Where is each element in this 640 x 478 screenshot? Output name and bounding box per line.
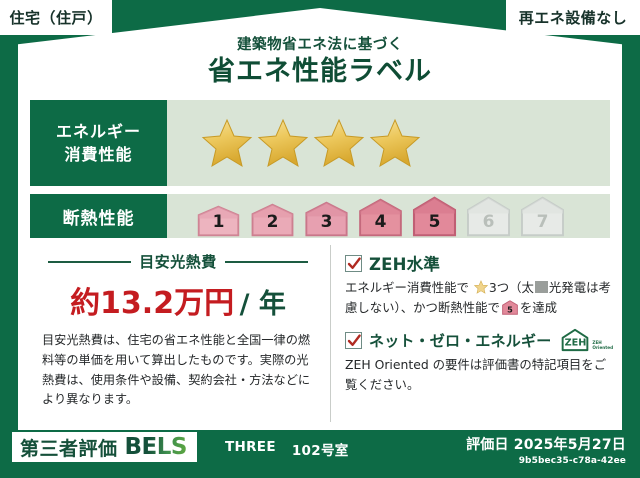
- insulation-level-scale: 1 2 3: [193, 196, 568, 237]
- inline-insulation-badge: 5: [502, 300, 518, 321]
- title-block: 建築物省エネ法に基づく 省エネ性能ラベル: [0, 38, 640, 88]
- checkbox-checked-icon: [345, 255, 362, 272]
- label-title: 省エネ性能ラベル: [0, 56, 640, 88]
- building-name: THREE: [225, 439, 276, 459]
- estimated-cost-note: 目安光熱費は、住宅の省エネ性能と全国一律の燃料等の単価を用いて算出したものです。…: [34, 331, 322, 410]
- insulation-level-number: 1: [193, 212, 244, 232]
- evaluation-date-value: 2025年5月27日: [514, 437, 626, 453]
- insulation-performance-label: 断熱性能: [30, 194, 167, 238]
- insulation-level-1: 1: [193, 205, 244, 237]
- insulation-level-number: 4: [355, 212, 406, 232]
- check-head: ZEH水準: [345, 251, 613, 275]
- svg-text:5: 5: [507, 305, 513, 315]
- insulation-performance-panel: 1 2 3: [167, 194, 610, 238]
- insulation-level-7: 7: [517, 196, 568, 237]
- room-number: 102号室: [292, 439, 349, 459]
- star-icon: [257, 117, 309, 169]
- label-footer: 第三者評価 BELS THREE 102号室 評価日 2025年5月27日 9b…: [0, 426, 640, 478]
- label-content: エネルギー 消費性能: [30, 100, 610, 422]
- evaluation-info: 評価日 2025年5月27日 9b5bec35-c78a-42ee: [466, 434, 626, 466]
- star-rating: [201, 117, 421, 169]
- zeh-house-logo-icon: ZEH: [560, 328, 590, 352]
- redacted-character-block: [535, 281, 548, 293]
- estimated-cost-heading-text: 目安光熱費: [139, 251, 217, 272]
- zeh-logo-caption: ZEH Oriented: [592, 340, 613, 353]
- compliance-checks-section: ZEH水準 エネルギー消費性能で 3つ（太光発電は考慮しない）、かつ断熱性能で …: [330, 245, 613, 422]
- estimated-cost-unit: / 年: [240, 289, 286, 320]
- estimated-cost-value: 約13.2万円: [70, 286, 234, 321]
- energy-performance-row: エネルギー 消費性能: [30, 100, 610, 186]
- evaluation-date: 評価日 2025年5月27日: [466, 434, 626, 454]
- heading-rule-left: [48, 261, 131, 263]
- insulation-level-2: 2: [247, 203, 298, 237]
- insulation-level-number: 3: [301, 212, 352, 232]
- third-party-evaluation-text: 第三者評価: [20, 434, 118, 461]
- insulation-level-6: 6: [463, 196, 514, 237]
- estimated-cost-heading: 目安光熱費: [34, 251, 322, 272]
- estimated-cost-amount: 約13.2万円 / 年: [34, 278, 322, 322]
- star-icon: [313, 117, 365, 169]
- evaluation-id: 9b5bec35-c78a-42ee: [466, 456, 626, 466]
- check-body-zeh-standard: エネルギー消費性能で 3つ（太光発電は考慮しない）、かつ断熱性能で 5 を達成: [345, 278, 613, 321]
- check-item-zeh-standard: ZEH水準 エネルギー消費性能で 3つ（太光発電は考慮しない）、かつ断熱性能で …: [345, 251, 613, 321]
- building-identification: THREE 102号室: [225, 439, 349, 459]
- label-details: 目安光熱費 約13.2万円 / 年 目安光熱費は、住宅の省エネ性能と全国一律の燃…: [30, 245, 610, 422]
- bels-certification-plate: 第三者評価 BELS: [12, 432, 197, 462]
- insulation-level-number: 5: [409, 212, 460, 232]
- zeh-caption-line2: Oriented: [592, 345, 613, 350]
- estimated-cost-section: 目安光熱費 約13.2万円 / 年 目安光熱費は、住宅の省エネ性能と全国一律の燃…: [30, 245, 330, 422]
- insulation-level-3: 3: [301, 201, 352, 237]
- insulation-level-number: 2: [247, 212, 298, 232]
- zeh-body-part1: エネルギー消費性能で: [345, 280, 469, 295]
- badge-dwelling-type: 住宅（住戸）: [0, 0, 112, 35]
- check-title-net-zero-energy: ネット・ゼロ・エネルギー: [369, 330, 551, 351]
- insulation-performance-row: 断熱性能 1 2: [30, 194, 610, 238]
- energy-label-line2: 消費性能: [64, 143, 132, 166]
- inline-star-icon: [474, 280, 488, 294]
- checkbox-checked-icon: [345, 332, 362, 349]
- label-subtitle: 建築物省エネ法に基づく: [0, 38, 640, 54]
- zeh-logo: ZEH ZEH Oriented: [560, 328, 613, 352]
- bels-logo: BELS: [125, 434, 187, 460]
- insulation-level-number: 6: [463, 212, 514, 232]
- energy-performance-panel: [167, 100, 610, 186]
- badge-renewable-equipment: 再エネ設備なし: [506, 0, 640, 35]
- energy-label-root: 住宅（住戸） 再エネ設備なし 建築物省エネ法に基づく 省エネ性能ラベル エネルギ…: [0, 0, 640, 478]
- heading-rule-right: [225, 261, 308, 263]
- insulation-level-4: 4: [355, 198, 406, 237]
- energy-performance-label: エネルギー 消費性能: [30, 100, 167, 186]
- evaluation-date-label: 評価日: [466, 437, 509, 453]
- star-icon: [201, 117, 253, 169]
- check-head: ネット・ゼロ・エネルギー ZEH ZEH Oriented: [345, 328, 613, 352]
- check-item-net-zero-energy: ネット・ゼロ・エネルギー ZEH ZEH Oriented: [345, 328, 613, 395]
- zeh-caption-line1: ZEH: [592, 340, 601, 345]
- star-icon: [369, 117, 421, 169]
- check-title-zeh-standard: ZEH水準: [369, 251, 440, 275]
- energy-label-line1: エネルギー: [56, 120, 141, 143]
- inline-house-chevron-icon: 5: [502, 300, 518, 315]
- insulation-level-number: 7: [517, 212, 568, 232]
- zeh-body-part2: 3つ（太: [489, 280, 534, 295]
- insulation-level-5: 5: [409, 196, 460, 237]
- zeh-body-part4: を達成: [520, 300, 557, 315]
- svg-text:ZEH: ZEH: [565, 337, 587, 348]
- check-body-net-zero-energy: ZEH Oriented の要件は評価書の特記項目をご覧ください。: [345, 355, 613, 395]
